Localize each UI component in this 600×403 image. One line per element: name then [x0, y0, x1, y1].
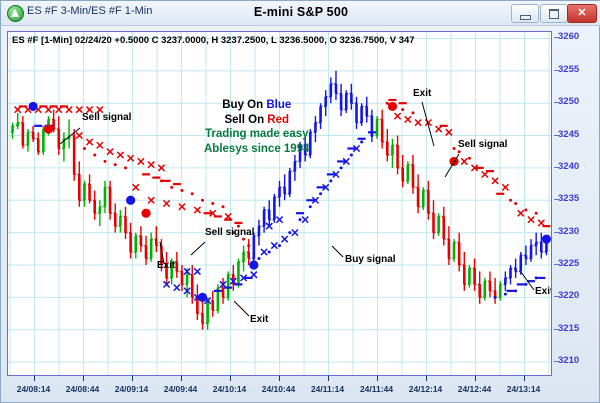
annotation-exit-4: Exit: [535, 286, 552, 297]
annotation-exit-1: Exit: [157, 260, 175, 271]
price-tick-label: 3245: [558, 129, 579, 140]
price-tick-label: 3255: [558, 64, 579, 75]
time-tick-mark: [279, 376, 280, 381]
time-tick-mark: [83, 376, 84, 381]
time-tick-label: 24/09:44: [164, 384, 198, 394]
legend-line1-prefix: Buy On: [222, 99, 266, 111]
close-button[interactable]: ✕: [567, 4, 597, 23]
title-bar: ES #F 3-Min/ES #F 1-Min E-mini S&P 500 ✕: [1, 1, 600, 26]
time-tick-mark: [181, 376, 182, 381]
price-tick-mark: [554, 264, 558, 265]
promo-legend: Buy On Blue Sell On Red Trading made eas…: [204, 98, 310, 156]
price-tick-mark: [554, 329, 558, 330]
price-tick-mark: [554, 361, 558, 362]
annotation-sell-signal-1: Sell signal: [82, 112, 131, 123]
maximize-button[interactable]: [540, 4, 568, 23]
price-tick-label: 3210: [558, 355, 579, 366]
price-tick-mark: [554, 232, 558, 233]
annotation-exit-3: Exit: [413, 88, 431, 99]
time-tick-mark: [132, 376, 133, 381]
price-tick-label: 3235: [558, 193, 579, 204]
price-tick-mark: [554, 37, 558, 38]
time-tick-label: 24/08:14: [17, 384, 51, 394]
time-tick-mark: [230, 376, 231, 381]
price-tick-label: 3260: [558, 31, 579, 42]
annotation-sell-signal-3: Sell signal: [458, 139, 507, 150]
time-tick-label: 24/12:44: [458, 384, 492, 394]
time-tick-mark: [377, 376, 378, 381]
time-tick-mark: [524, 376, 525, 381]
time-tick-mark: [426, 376, 427, 381]
price-axis: 3260325532503245324032353230322532203215…: [554, 31, 600, 376]
chart-canvas: [8, 32, 551, 375]
time-tick-label: 24/10:44: [262, 384, 296, 394]
time-tick-mark: [34, 376, 35, 381]
close-icon: ✕: [568, 6, 596, 19]
annotation-buy-signal: Buy signal: [345, 254, 396, 265]
time-tick-mark: [328, 376, 329, 381]
price-tick-label: 3230: [558, 226, 579, 237]
time-tick-label: 24/13:14: [507, 384, 541, 394]
price-tick-mark: [554, 167, 558, 168]
annotation-sell-signal-2: Sell signal: [205, 227, 254, 238]
time-tick-mark: [475, 376, 476, 381]
annotation-exit-2: Exit: [250, 314, 268, 325]
legend-line3: Trading made easy: [204, 127, 310, 142]
price-tick-mark: [554, 199, 558, 200]
time-tick-label: 24/12:14: [409, 384, 443, 394]
legend-line4: Ablesys since 1994: [204, 142, 310, 157]
price-tick-label: 3240: [558, 161, 579, 172]
legend-line2-prefix: Sell On: [224, 114, 267, 126]
legend-line1-blue: Blue: [266, 99, 291, 111]
time-axis: 24/08:1424/08:4424/09:1424/09:4424/10:14…: [7, 376, 552, 400]
chart-plot-area[interactable]: ES #F [1-Min] 02/24/20 +0.5000 C 3237.00…: [7, 31, 552, 376]
price-tick-mark: [554, 102, 558, 103]
price-tick-label: 3215: [558, 323, 579, 334]
chart-window: ES #F 3-Min/ES #F 1-Min E-mini S&P 500 ✕…: [0, 0, 600, 403]
time-tick-label: 24/09:14: [115, 384, 149, 394]
time-tick-label: 24/11:14: [311, 384, 344, 394]
price-tick-mark: [554, 296, 558, 297]
price-tick-mark: [554, 135, 558, 136]
price-tick-label: 3250: [558, 96, 579, 107]
time-tick-label: 24/08:44: [66, 384, 100, 394]
quote-info-bar: ES #F [1-Min] 02/24/20 +0.5000 C 3237.00…: [12, 35, 415, 46]
time-tick-label: 24/10:14: [213, 384, 247, 394]
legend-line2-red: Red: [267, 114, 289, 126]
minimize-button[interactable]: [511, 4, 539, 23]
price-tick-label: 3220: [558, 290, 579, 301]
price-tick-label: 3225: [558, 258, 579, 269]
time-tick-label: 24/11:44: [360, 384, 393, 394]
price-tick-mark: [554, 70, 558, 71]
